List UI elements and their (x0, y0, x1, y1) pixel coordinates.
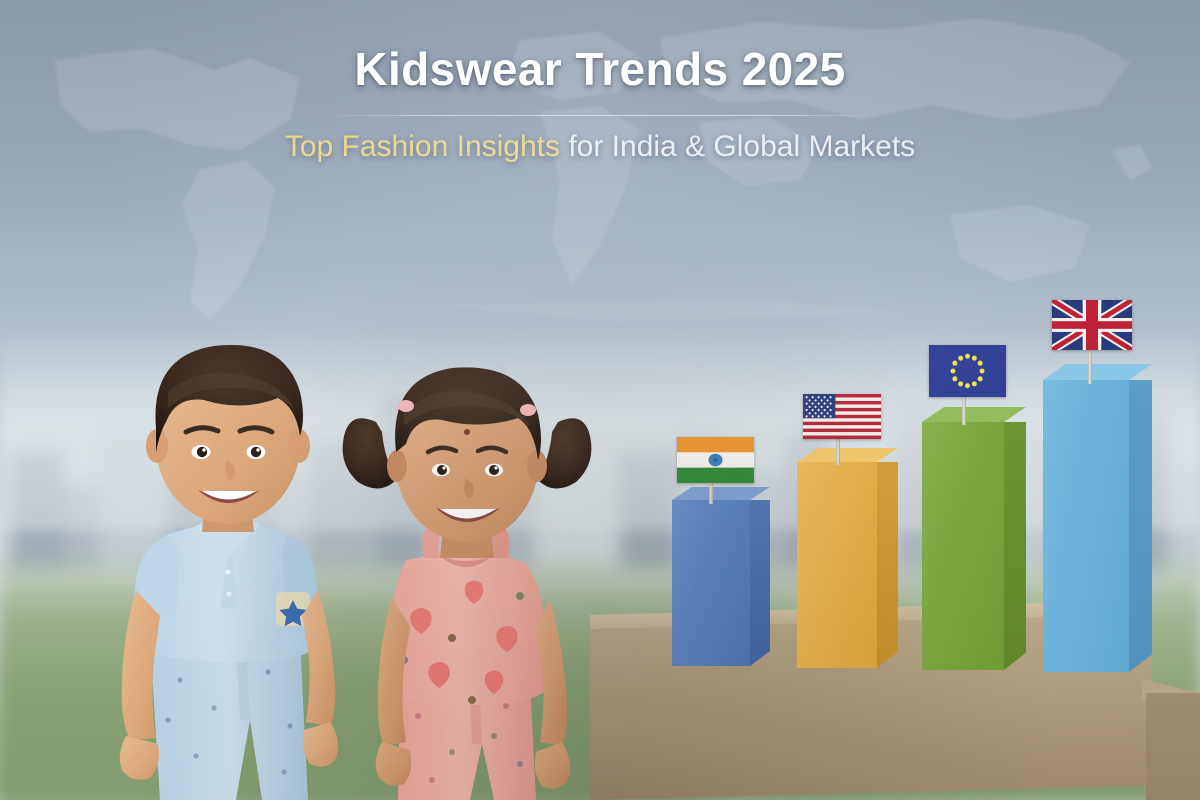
subtitle-highlight: Top Fashion Insights (285, 130, 560, 163)
bar-united-kingdom[interactable] (1043, 380, 1129, 672)
bar-european-union-side (1004, 422, 1026, 670)
banner-header: Kidswear Trends 2025 Top Fashion Insight… (0, 0, 1200, 164)
page-subtitle: Top Fashion Insights for India & Global … (0, 130, 1200, 164)
bar-united-kingdom-side (1129, 380, 1152, 672)
platform-side-face (1146, 693, 1200, 800)
bar-united-states-side (877, 462, 898, 668)
children-photo (0, 160, 700, 800)
bar-united-states-face (797, 462, 877, 668)
title-divider (320, 115, 880, 116)
page-title: Kidswear Trends 2025 (0, 42, 1200, 96)
bar-european-union[interactable] (922, 422, 1004, 670)
bar-united-states[interactable] (797, 462, 877, 668)
bar-european-union-face (922, 422, 1004, 670)
subtitle-rest: for India & Global Markets (560, 130, 915, 163)
bar-united-kingdom-face (1043, 380, 1129, 672)
bar-india-side (750, 500, 770, 666)
kidswear-trends-banner: Kidswear Trends 2025 Top Fashion Insight… (0, 0, 1200, 800)
girl-figure (343, 367, 592, 800)
boy-figure (120, 345, 338, 800)
